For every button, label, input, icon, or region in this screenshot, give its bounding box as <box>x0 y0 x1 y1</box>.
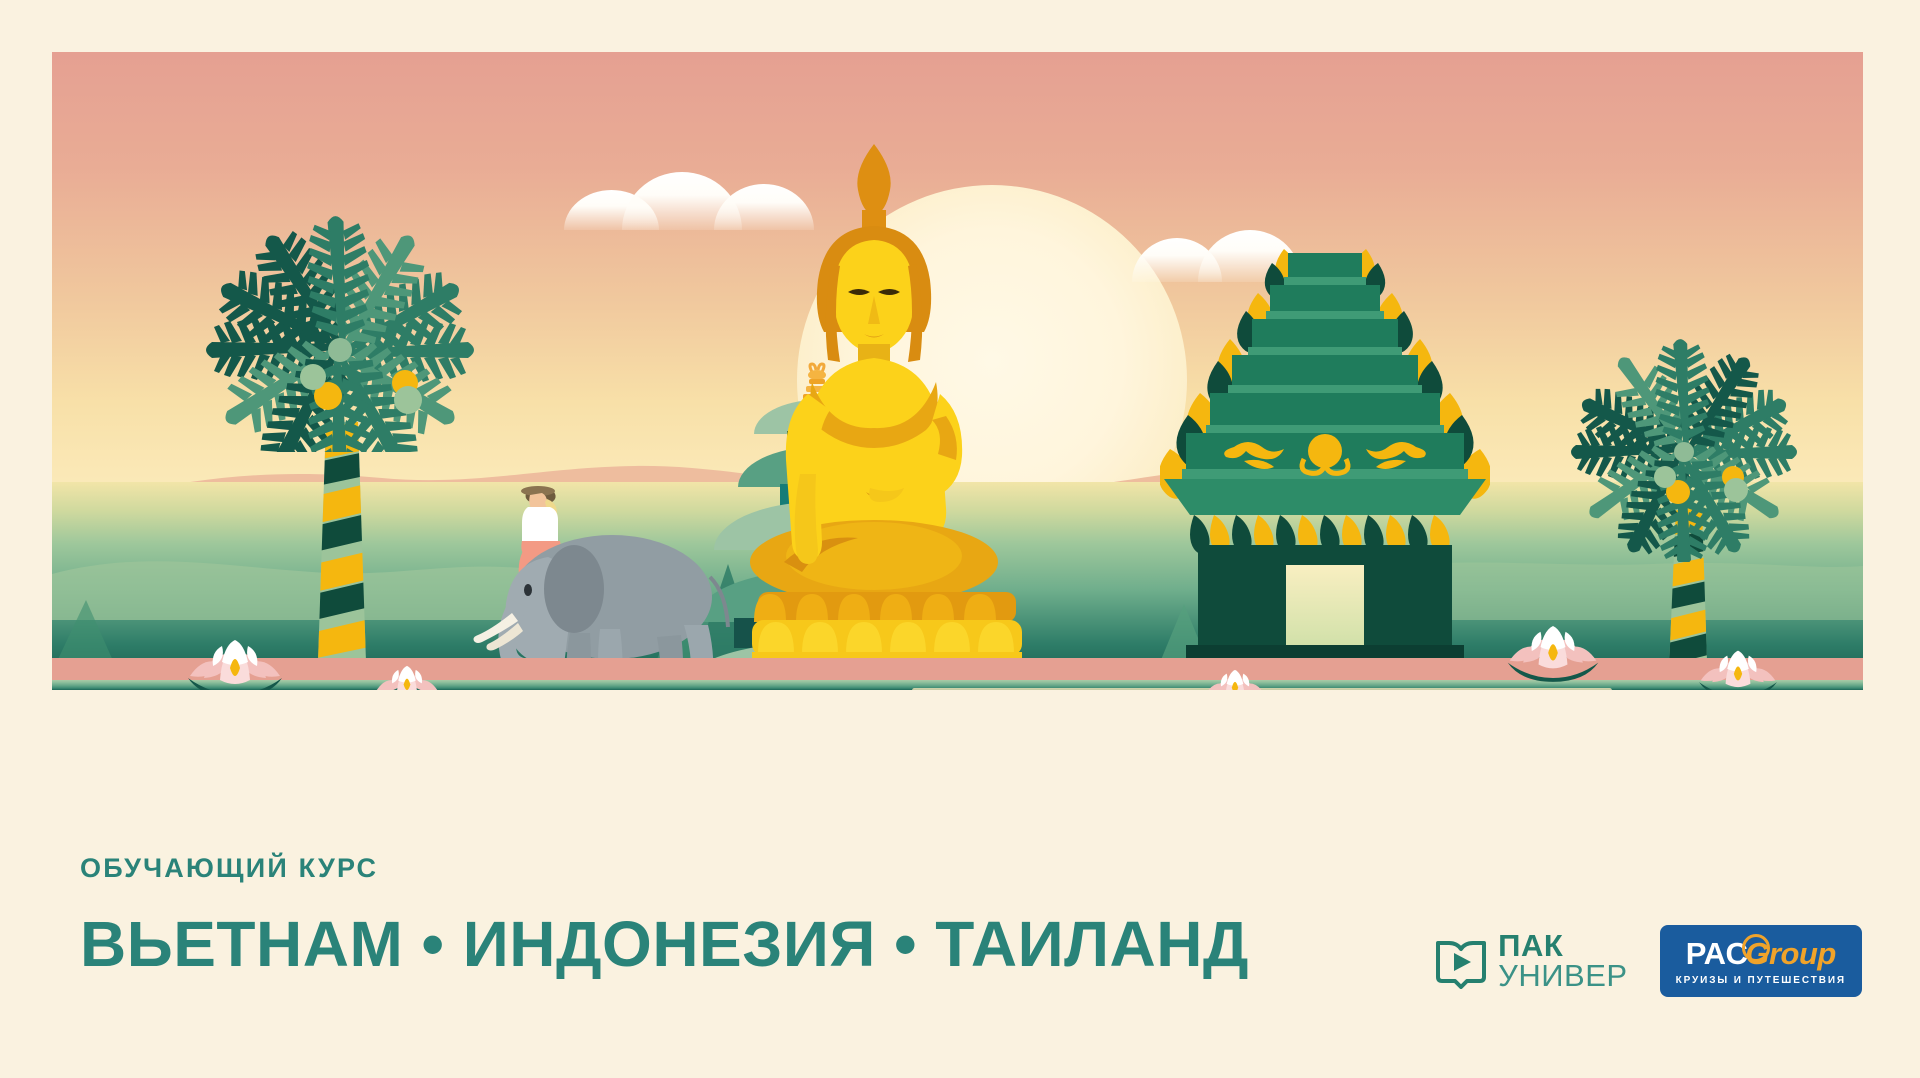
pac-group-logo[interactable]: PAC Group КРУИЗЫ И ПУТЕШЕСТВИЯ <box>1660 925 1862 997</box>
lotus-flower <box>1500 618 1606 686</box>
palm-trunk-left <box>308 422 374 662</box>
palm-tree-left <box>160 132 520 652</box>
open-book-play-icon <box>1433 933 1489 989</box>
hero-illustration <box>52 52 1863 690</box>
buddha-pedestal <box>752 592 1022 664</box>
logo-row: ПАК УНИВЕР PAC Group КРУИЗЫ И ПУТЕШЕСТВИ… <box>1433 925 1862 997</box>
palm-fronds-right <box>1524 282 1844 562</box>
lotus-flower <box>1200 664 1270 690</box>
pak-univer-logo[interactable]: ПАК УНИВЕР <box>1433 931 1627 991</box>
coconut <box>1654 466 1676 488</box>
balinese-temple <box>1160 227 1490 667</box>
course-kicker: ОБУЧАЮЩИЙ КУРС <box>80 855 1249 882</box>
buddha-statue <box>724 144 1024 614</box>
lotus-flower <box>370 660 444 690</box>
pac-word: PAC <box>1686 938 1748 969</box>
pak-univer-text: ПАК УНИВЕР <box>1498 931 1627 991</box>
lotus-flower <box>1692 644 1784 690</box>
caption-block: ОБУЧАЮЩИЙ КУРС ВЬЕТНАМ • ИНДОНЕЗИЯ • ТАИ… <box>80 855 1249 976</box>
pak-line1: ПАК <box>1498 931 1627 961</box>
pac-group-wrap: Group <box>1745 938 1836 969</box>
lotus-flower <box>180 632 290 690</box>
coconut <box>394 386 422 414</box>
pak-line2: УНИВЕР <box>1498 961 1627 991</box>
pac-group-wordmark: PAC Group <box>1676 938 1846 969</box>
page-title: ВЬЕТНАМ • ИНДОНЕЗИЯ • ТАИЛАНД <box>80 912 1249 976</box>
coconut <box>300 364 326 390</box>
pac-group-tagline: КРУИЗЫ И ПУТЕШЕСТВИЯ <box>1676 975 1846 986</box>
coconut <box>1724 478 1748 502</box>
palm-fronds-left <box>160 132 520 452</box>
